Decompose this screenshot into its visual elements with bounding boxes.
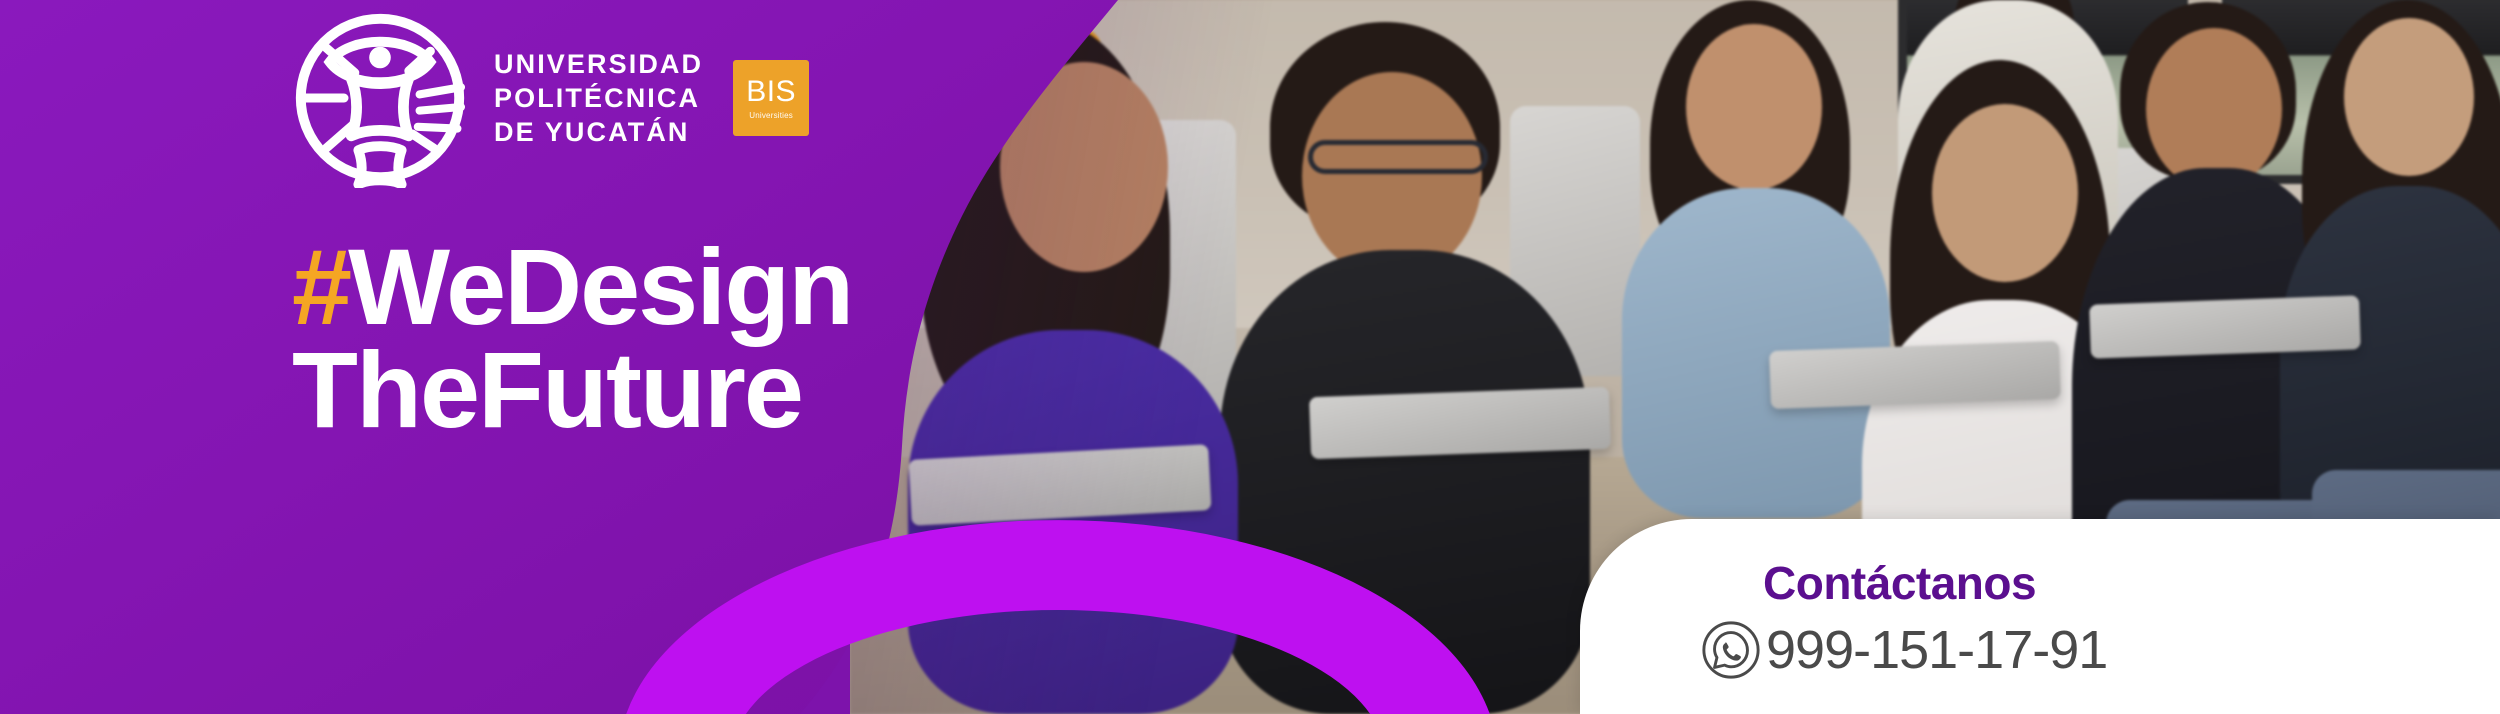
logo-wordmark-line-1: UNIVERSIDAD xyxy=(494,47,703,81)
contact-card: Contáctanos 999-151-17-91 xyxy=(1580,519,2500,714)
whatsapp-icon xyxy=(1700,619,1762,681)
contact-phone-row[interactable]: 999-151-17-91 xyxy=(1700,619,2107,681)
bis-universities-badge: BIS Universities xyxy=(733,60,809,136)
headline-line-1: #WeDesign xyxy=(292,236,852,339)
logo-wordmark-line-3: DE YUCATÁN xyxy=(494,115,703,149)
upy-circular-emblem-icon xyxy=(290,8,470,188)
upy-promotional-banner: UNIVERSIDAD POLITÉCNICA DE YUCATÁN BIS U… xyxy=(0,0,2500,714)
contact-phone-number[interactable]: 999-151-17-91 xyxy=(1766,619,2107,681)
headline-line-2: TheFuture xyxy=(292,339,852,442)
logo-wordmark: UNIVERSIDAD POLITÉCNICA DE YUCATÁN xyxy=(494,47,703,150)
bis-badge-main-text: BIS xyxy=(746,77,796,107)
logo-lockup: UNIVERSIDAD POLITÉCNICA DE YUCATÁN BIS U… xyxy=(290,8,809,188)
contact-title: Contáctanos xyxy=(1763,556,2036,610)
campaign-headline: #WeDesign TheFuture xyxy=(292,236,852,441)
bis-badge-sub-text: Universities xyxy=(749,112,793,120)
logo-wordmark-line-2: POLITÉCNICA xyxy=(494,81,703,115)
